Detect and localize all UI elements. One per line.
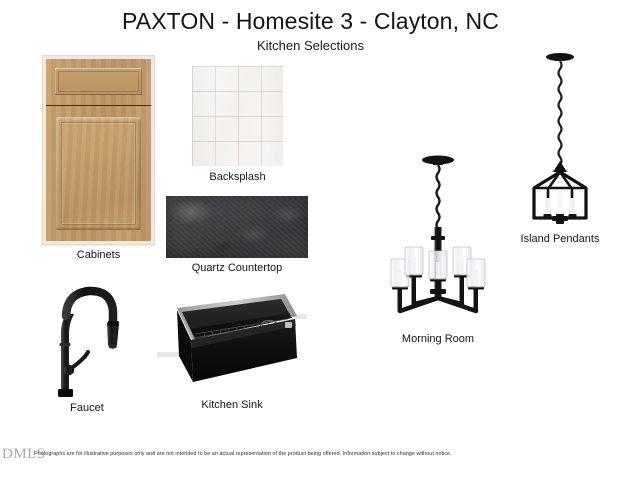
- selection-card-sink: Kitchen Sink: [157, 286, 307, 394]
- page-header: PAXTON - Homesite 3 - Clayton, NC Kitche…: [0, 6, 621, 54]
- selection-label-island-pendants: Island Pendants: [518, 232, 602, 246]
- pendant-light-image: [518, 48, 602, 234]
- faucet-image: [33, 281, 141, 399]
- selection-label-faucet: Faucet: [33, 401, 141, 415]
- backsplash-tile-image: [192, 66, 283, 166]
- selection-label-sink: Kitchen Sink: [157, 398, 307, 412]
- quartz-slab-image: [166, 196, 308, 258]
- disclaimer-text: Photographs are for illustrative purpose…: [34, 450, 594, 458]
- selection-card-morning-room: Morning Room: [378, 148, 498, 334]
- chandelier-image: [378, 148, 498, 334]
- selection-card-countertop: Quartz Countertop: [166, 196, 308, 258]
- page-title: PAXTON - Homesite 3 - Clayton, NC: [0, 6, 621, 36]
- cabinet-door-image: [42, 55, 155, 245]
- selection-label-morning-room: Morning Room: [378, 332, 498, 346]
- footer: Photographs are for illustrative purpose…: [0, 450, 621, 466]
- selection-label-cabinets: Cabinets: [42, 248, 155, 262]
- selection-label-countertop: Quartz Countertop: [166, 261, 308, 275]
- selection-card-faucet: Faucet: [33, 281, 141, 399]
- kitchen-sink-image: [157, 286, 307, 394]
- dmls-watermark: DMLS: [2, 446, 46, 463]
- selection-card-cabinets: Cabinets: [42, 55, 155, 245]
- selection-sheet: PAXTON - Homesite 3 - Clayton, NC Kitche…: [0, 0, 621, 480]
- selection-card-island-pendants: Island Pendants: [518, 48, 602, 234]
- selection-card-backsplash: Backsplash: [192, 66, 283, 166]
- selection-label-backsplash: Backsplash: [192, 170, 283, 184]
